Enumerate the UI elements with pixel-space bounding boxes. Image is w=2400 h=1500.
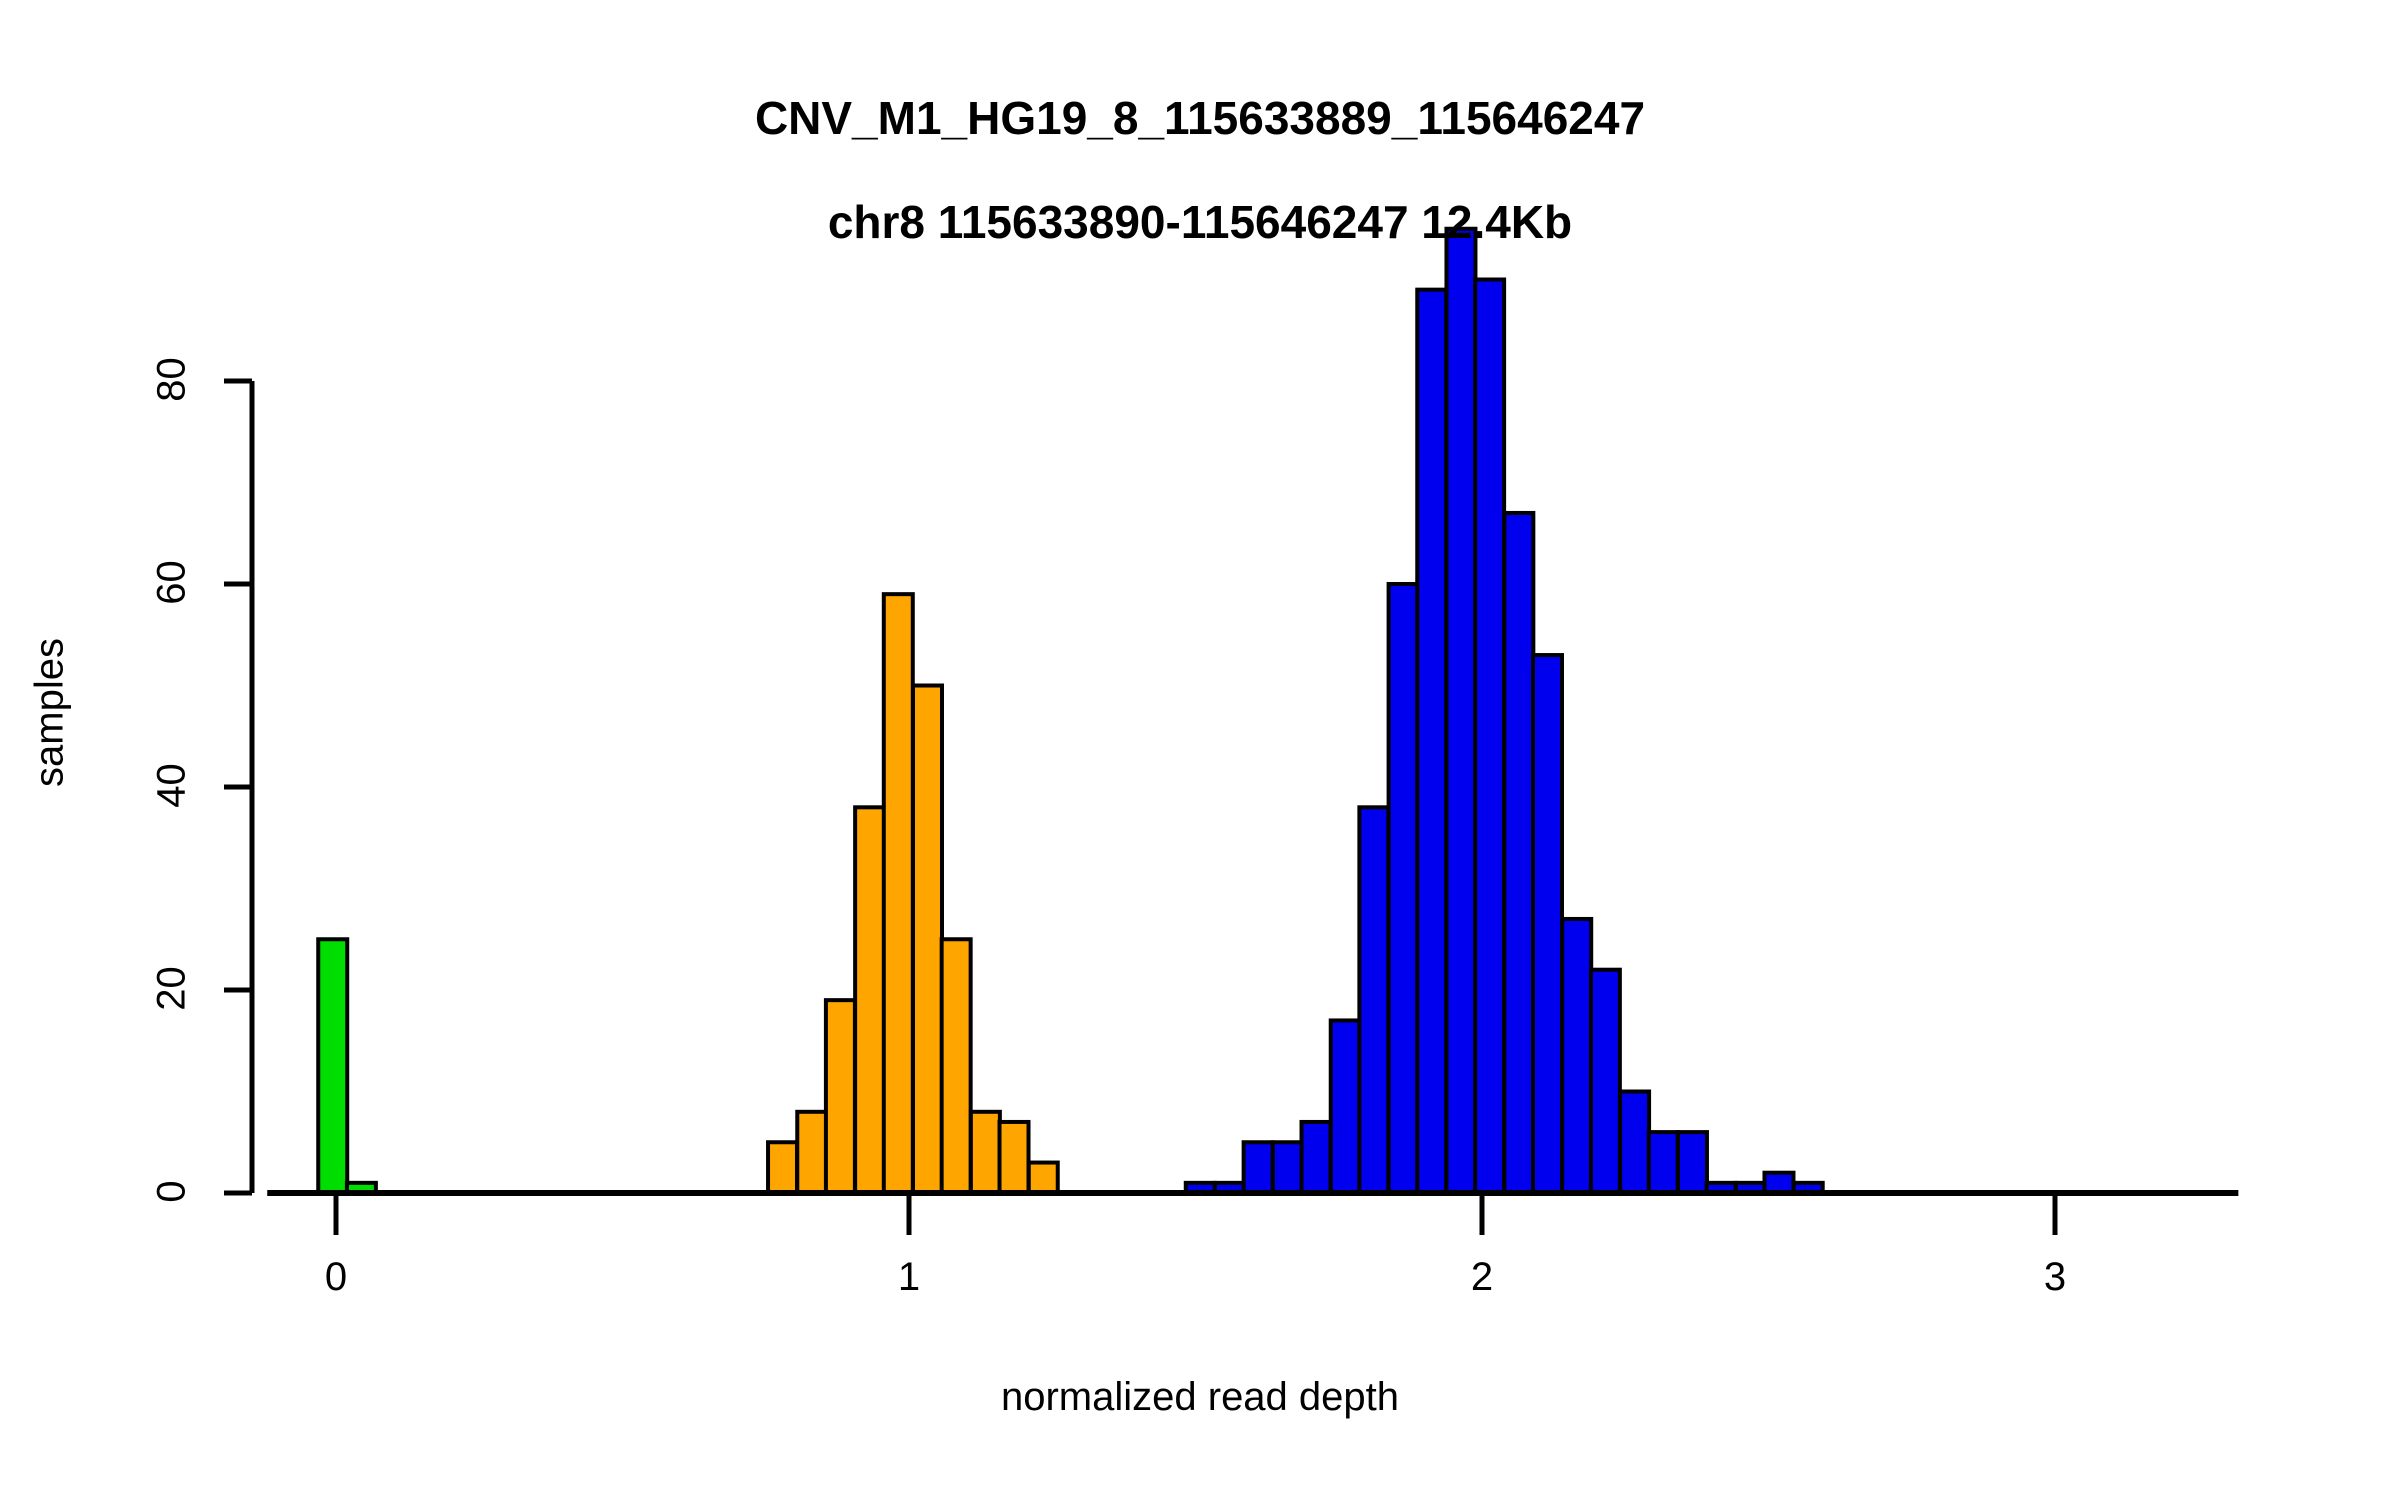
histogram-bar [1764, 1173, 1793, 1193]
bar-series-homozygous-deletion [318, 939, 376, 1193]
x-tick-label: 1 [869, 1255, 949, 1300]
histogram-bar [1533, 655, 1562, 1193]
x-tick-label: 2 [1442, 1255, 1522, 1300]
histogram-bar [1475, 280, 1504, 1194]
histogram-bar [826, 1000, 855, 1193]
y-axis-label: samples [28, 563, 73, 863]
histogram-bar [1302, 1122, 1331, 1193]
y-tick-label: 20 [150, 949, 195, 1029]
x-tick-label: 0 [296, 1255, 376, 1300]
y-tick-label: 80 [150, 340, 195, 420]
histogram-bar [318, 939, 347, 1193]
histogram-bar [1649, 1132, 1678, 1193]
histogram-bar [1591, 970, 1620, 1193]
histogram-bar [1446, 229, 1475, 1193]
histogram-bar [942, 939, 971, 1193]
histogram-bar [1417, 290, 1446, 1193]
histogram-bar [1000, 1122, 1029, 1193]
plot-title-line2: chr8 115633890-115646247 12.4Kb [0, 196, 2400, 248]
histogram-bar [1504, 513, 1533, 1193]
histogram-bar [1678, 1132, 1707, 1193]
histogram-bar [768, 1142, 797, 1193]
histogram-bar [884, 594, 913, 1193]
plot-title: CNV_M1_HG19_8_115633889_115646247 chr8 1… [0, 40, 2400, 300]
y-tick-label: 40 [150, 746, 195, 826]
histogram-bar [855, 807, 884, 1193]
x-axis-label: normalized read depth [0, 1375, 2400, 1420]
histogram-bar [1620, 1092, 1649, 1194]
histogram-bar [797, 1112, 826, 1193]
histogram-bar [971, 1112, 1000, 1193]
histogram-bar [1029, 1163, 1058, 1193]
histogram-bar [1389, 584, 1418, 1193]
bar-series-heterozygous-deletion [768, 594, 1058, 1193]
y-tick-label: 60 [150, 543, 195, 623]
plot-title-line1: CNV_M1_HG19_8_115633889_115646247 [0, 92, 2400, 144]
histogram-bar [1244, 1142, 1273, 1193]
histogram-bar [1273, 1142, 1302, 1193]
histogram-bar [1331, 1020, 1360, 1193]
histogram-bar [1359, 807, 1388, 1193]
histogram-bar [913, 686, 942, 1194]
histogram-bar [1562, 919, 1591, 1193]
histogram-plot: CNV_M1_HG19_8_115633889_115646247 chr8 1… [0, 0, 2400, 1500]
bar-series-diploid [1186, 229, 1823, 1193]
y-tick-label: 0 [150, 1152, 195, 1232]
x-tick-label: 3 [2015, 1255, 2095, 1300]
